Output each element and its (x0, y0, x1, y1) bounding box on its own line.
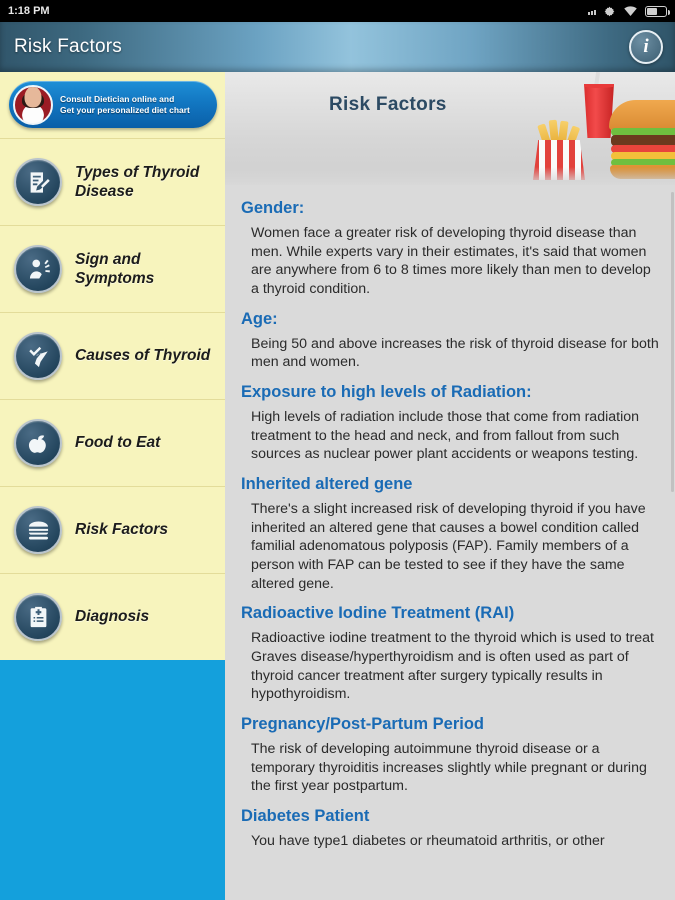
sidebar-item-label: Sign and Symptoms (75, 250, 215, 289)
dietician-avatar-icon (13, 85, 53, 125)
hero-title: Risk Factors (329, 94, 447, 116)
battery-icon (645, 6, 667, 17)
sidebar-item-label: Food to Eat (75, 433, 160, 452)
section-heading: Pregnancy/Post-Partum Period (241, 715, 659, 735)
sidebar: Consult Dietician online and Get your pe… (0, 72, 225, 900)
sidebar-item-causes-of-thyroid[interactable]: Causes of Thyroid (0, 312, 225, 399)
app-bar: Risk Factors i (0, 22, 675, 72)
article: Gender: Women face a greater risk of dev… (225, 185, 675, 851)
scrollbar[interactable] (671, 192, 674, 492)
apple-icon (14, 419, 62, 467)
sidebar-list: Consult Dietician online and Get your pe… (0, 72, 225, 660)
notepad-pen-icon (14, 158, 62, 206)
sidebar-item-food-to-eat[interactable]: Food to Eat (0, 399, 225, 486)
sidebar-item-risk-factors[interactable]: Risk Factors (0, 486, 225, 573)
section-heading: Inherited altered gene (241, 475, 659, 495)
sidebar-item-types-of-thyroid-disease[interactable]: Types of Thyroid Disease (0, 138, 225, 225)
sidebar-promo-banner[interactable]: Consult Dietician online and Get your pe… (0, 72, 225, 138)
sidebar-item-label: Causes of Thyroid (75, 346, 210, 365)
content-area: Consult Dietician online and Get your pe… (0, 72, 675, 900)
promo-line-2: Get your personalized diet chart (60, 105, 190, 116)
checkmark-funnel-icon (14, 332, 62, 380)
info-icon[interactable]: i (629, 30, 663, 64)
sidebar-item-label: Risk Factors (75, 520, 168, 539)
settings-gear-icon (603, 5, 616, 18)
clipboard-medical-icon (14, 593, 62, 641)
sidebar-item-diagnosis[interactable]: Diagnosis (0, 573, 225, 660)
burger-icon (14, 506, 62, 554)
main-content[interactable]: Risk Factors (225, 72, 675, 900)
section-body: High levels of radiation include those t… (241, 408, 659, 464)
section-body: Being 50 and above increases the risk of… (241, 335, 659, 372)
hero-banner: Risk Factors (225, 72, 675, 185)
sidebar-item-label: Diagnosis (75, 607, 149, 626)
section-heading: Gender: (241, 199, 659, 219)
status-bar: 1:18 PM (0, 0, 675, 22)
section-body: Radioactive iodine treatment to the thyr… (241, 629, 659, 704)
app-screen: 1:18 PM Risk Factors i (0, 0, 675, 900)
sidebar-item-label: Types of Thyroid Disease (75, 163, 215, 202)
section-heading: Exposure to high levels of Radiation: (241, 383, 659, 403)
section-body: There's a slight increased risk of devel… (241, 500, 659, 594)
page-title: Risk Factors (14, 36, 122, 58)
section-heading: Age: (241, 310, 659, 330)
section-body: You have type1 diabetes or rheumatoid ar… (241, 832, 659, 851)
sidebar-item-sign-and-symptoms[interactable]: Sign and Symptoms (0, 225, 225, 312)
person-coughing-icon (14, 245, 62, 293)
status-time: 1:18 PM (8, 5, 50, 17)
status-icons (588, 5, 667, 18)
signal-dots-icon (588, 7, 596, 15)
promo-line-1: Consult Dietician online and (60, 94, 190, 105)
section-body: Women face a greater risk of developing … (241, 224, 659, 299)
section-heading: Diabetes Patient (241, 807, 659, 827)
wifi-icon (623, 5, 638, 17)
section-body: The risk of developing autoimmune thyroi… (241, 740, 659, 796)
section-heading: Radioactive Iodine Treatment (RAI) (241, 604, 659, 624)
